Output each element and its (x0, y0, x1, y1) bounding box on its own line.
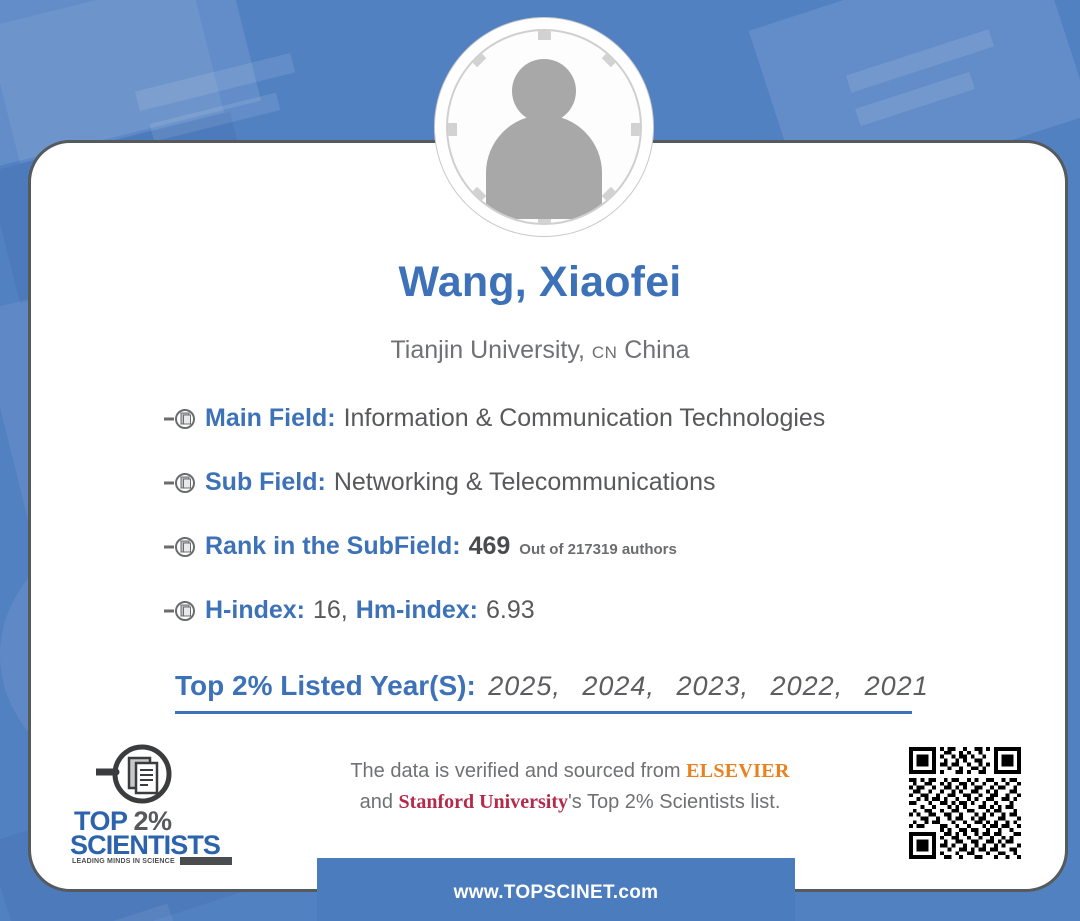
avatar-body (486, 115, 602, 219)
page-title: Wang, Xiaofei (0, 258, 1080, 307)
detail-value: Information & Communication Technologies (344, 404, 826, 433)
website-url: www.TOPSCINET.com (317, 882, 795, 904)
avatar-notch (631, 123, 640, 136)
detail-subtext: Out of 217319 authors (519, 541, 677, 558)
qr-code-icon[interactable] (909, 747, 1021, 859)
detail-label-h-index: H-index: (205, 596, 305, 625)
avatar-notch (448, 123, 457, 136)
detail-value-h-index: 16, (313, 596, 348, 625)
top2-listed-years: Top 2% Listed Year(S): 2025, 2024, 2023,… (175, 670, 912, 714)
detail-label: Sub Field: (205, 468, 326, 497)
years-label: Top 2% Listed Year(S): (175, 670, 476, 701)
stanford-label: Stanford University (399, 791, 568, 813)
source-note-part3: 's Top 2% Scientists list. (568, 791, 780, 813)
detail-value: Networking & Telecommunications (334, 468, 716, 497)
detail-value-hm-index: 6.93 (486, 596, 535, 625)
affiliation: Tianjin University, CN China (0, 336, 1080, 365)
detail-label: Rank in the SubField: (205, 532, 461, 561)
top-2-percent-scientists-logo: TOP2% SCIENTISTS LEADING MINDS IN SCIENC… (70, 744, 212, 856)
avatar (435, 18, 653, 236)
avatar-ring-inner (446, 29, 642, 225)
year-item: 2022, (771, 671, 844, 701)
year-item: 2021 (865, 671, 929, 701)
logo-tagline-bar (180, 857, 232, 865)
affiliation-country: China (624, 336, 689, 364)
avatar-notch (538, 31, 551, 40)
person-avatar-icon (484, 59, 604, 209)
detail-row-rank: Rank in the SubField: 469 Out of 217319 … (164, 532, 677, 561)
logo-tagline: LEADING MINDS IN SCIENCE (72, 857, 232, 865)
year-item: 2023, (676, 671, 749, 701)
magnifier-documents-logo-icon (96, 744, 174, 808)
detail-row-h-index: H-index: 16, Hm-index: 6.93 (164, 596, 535, 625)
year-item: 2025, (488, 671, 561, 701)
detail-row-main-field: Main Field: Information & Communication … (164, 404, 825, 433)
detail-value: 469 (469, 532, 511, 561)
year-item: 2024, (582, 671, 655, 701)
magnifier-document-bullet-icon (164, 408, 198, 430)
elsevier-label: ELSEVIER (686, 760, 790, 782)
source-note: The data is verified and sourced from EL… (290, 756, 850, 818)
affiliation-institution: Tianjin University, (390, 336, 585, 364)
logo-tagline-text: LEADING MINDS IN SCIENCE (72, 858, 175, 865)
detail-label-hm-index: Hm-index: (356, 596, 478, 625)
logo-scientists-word: SCIENTISTS (70, 832, 220, 859)
magnifier-document-bullet-icon (164, 600, 198, 622)
years-list: 2025, 2024, 2023, 2022, 2021 (488, 671, 941, 701)
magnifier-document-bullet-icon (164, 472, 198, 494)
affiliation-country-code: CN (592, 343, 617, 362)
detail-row-sub-field: Sub Field: Networking & Telecommunicatio… (164, 468, 715, 497)
magnifier-document-bullet-icon (164, 536, 198, 558)
avatar-head (512, 59, 576, 123)
website-bar[interactable]: www.TOPSCINET.com (317, 858, 795, 921)
source-note-part1: The data is verified and sourced from (350, 760, 686, 782)
detail-label: Main Field: (205, 404, 336, 433)
source-note-part2: and (360, 791, 399, 813)
